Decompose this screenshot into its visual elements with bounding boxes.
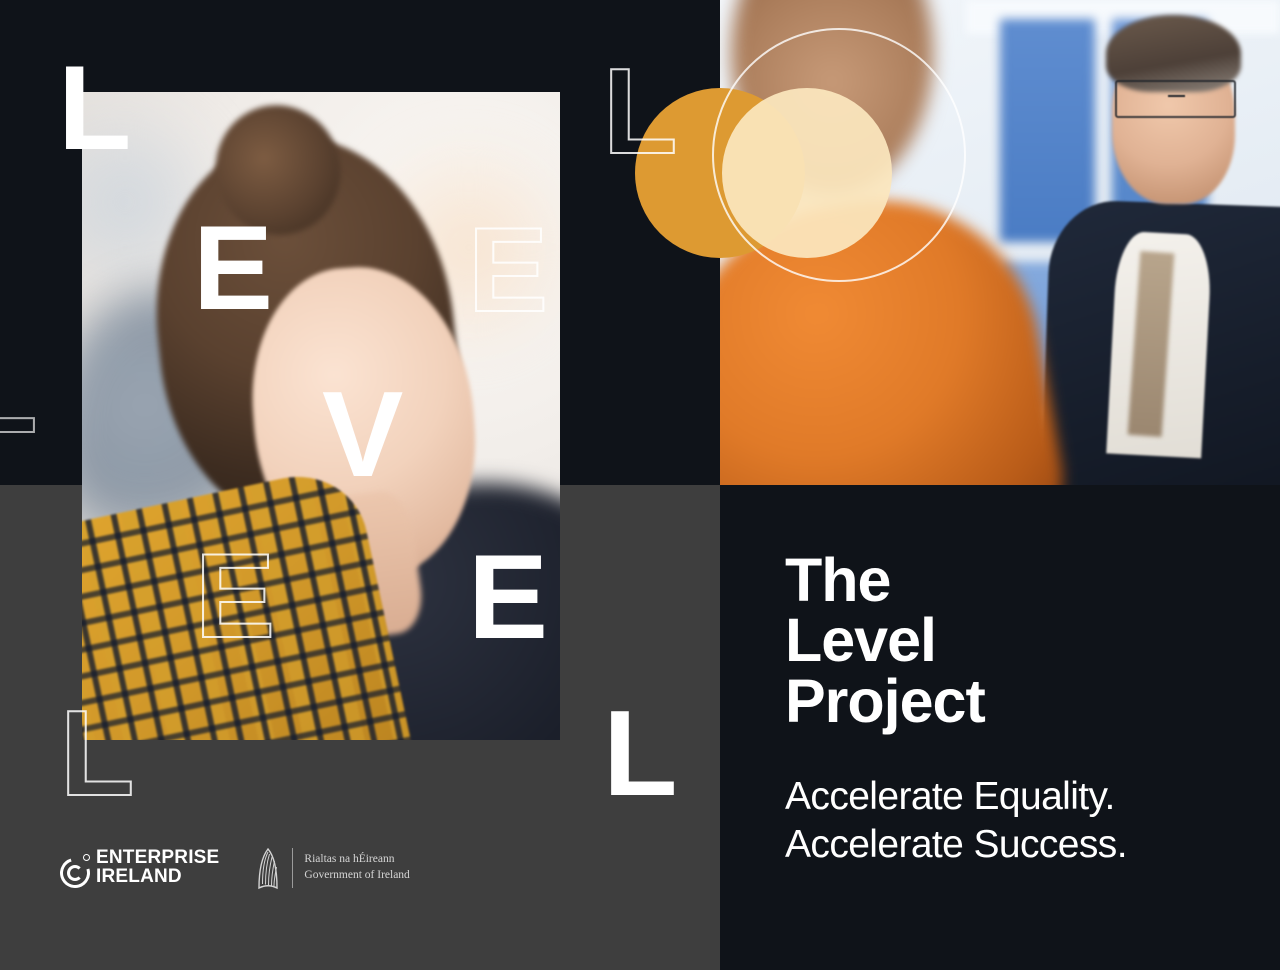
page-subtitle: Accelerate Equality. Accelerate Success.	[785, 773, 1255, 868]
poster-canvas: Young woman in yellow plaid shirt smilin…	[0, 0, 1280, 970]
swirl-icon	[60, 855, 87, 882]
page-title: The Level Project	[785, 550, 1255, 731]
enterprise-ireland-logo: ENTERPRISE IRELAND	[60, 849, 219, 887]
letter-mark-e-upper-right: E	[468, 210, 548, 330]
gov-line-english: Government of Ireland	[304, 869, 409, 881]
letter-mark-e-lower-center: E	[468, 537, 548, 657]
letter-mark-e-upper-left: E	[193, 208, 273, 328]
headline-line-2: Level	[785, 606, 936, 674]
letter-mark-l-bottom-right: L	[603, 692, 678, 814]
government-of-ireland-logo: Rialtas na hÉireann Government of Irelan…	[255, 846, 409, 890]
logo-lockup: ENTERPRISE IRELAND Rialtas na hÉireann G…	[60, 846, 410, 890]
letter-mark-l-top-right: L	[603, 50, 678, 172]
office-window-pane	[1000, 19, 1095, 242]
subhead-line-1: Accelerate Equality.	[785, 775, 1115, 818]
subhead-line-2: Accelerate Success.	[785, 823, 1127, 866]
letter-mark-e-lower-left: E	[195, 536, 275, 656]
glasses-bridge	[1168, 95, 1185, 97]
ei-line-2: IRELAND	[96, 866, 182, 887]
headline-line-1: The	[785, 546, 890, 614]
headline-line-3: Project	[785, 667, 985, 735]
circle-outline-shape	[712, 28, 966, 282]
gov-line-irish: Rialtas na hÉireann	[304, 853, 394, 865]
letter-mark-l-edge-left: L	[0, 328, 38, 452]
glasses-icon	[1115, 80, 1237, 118]
letter-mark-v-center: V	[322, 373, 403, 495]
harp-icon	[255, 846, 281, 890]
logo-divider	[292, 848, 293, 888]
enterprise-ireland-wordmark: ENTERPRISE IRELAND	[96, 849, 219, 887]
letter-mark-l-top-left: L	[58, 48, 131, 168]
copy-block: The Level Project Accelerate Equality. A…	[785, 550, 1255, 868]
government-of-ireland-wordmark: Rialtas na hÉireann Government of Irelan…	[304, 852, 409, 883]
letter-mark-l-bottom-left: L	[60, 692, 135, 814]
